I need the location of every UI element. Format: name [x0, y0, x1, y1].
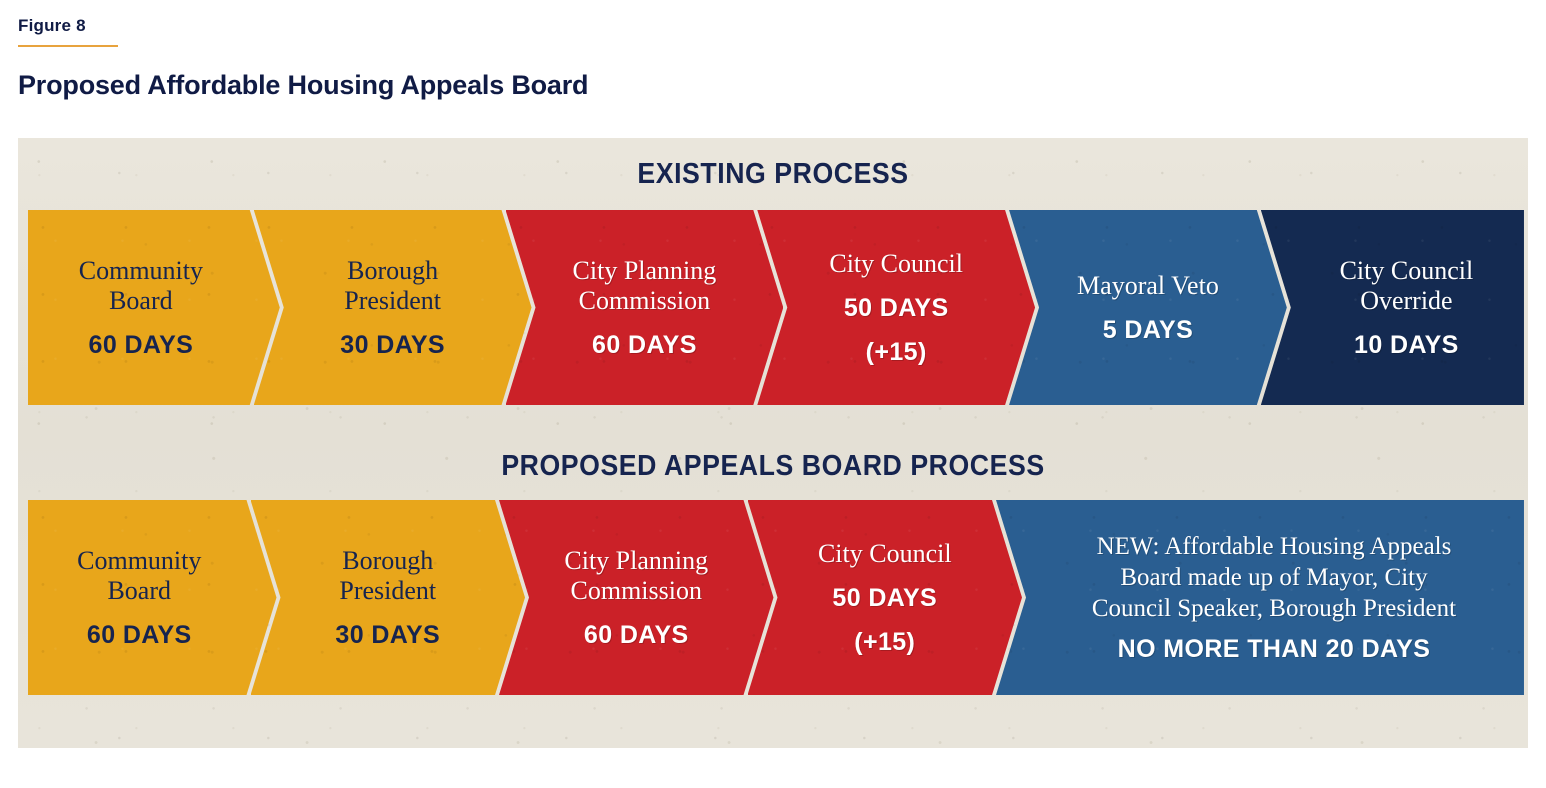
figure-rule-divider: [18, 45, 118, 47]
step-duration: 50 DAYS: [832, 583, 937, 613]
step-label: BoroughPresident: [344, 256, 441, 316]
step-city-council-override-existing[interactable]: City CouncilOverride 10 DAYS: [1261, 210, 1524, 405]
figure-header: Figure 8 Proposed Affordable Housing App…: [18, 16, 718, 101]
flow-proposed-appeals-board-process: CommunityBoard 60 DAYS BoroughPresident …: [28, 500, 1524, 695]
step-community-board-proposed[interactable]: CommunityBoard 60 DAYS: [28, 500, 277, 695]
step-duration: NO MORE THAN 20 DAYS: [1118, 634, 1431, 664]
step-label: City PlanningCommission: [573, 256, 717, 316]
step-city-council-existing[interactable]: City Council 50 DAYS (+15): [757, 210, 1035, 405]
step-city-planning-commission-proposed[interactable]: City PlanningCommission 60 DAYS: [499, 500, 774, 695]
step-label: CommunityBoard: [77, 546, 201, 606]
step-duration-extra: (+15): [854, 627, 915, 657]
step-label: BoroughPresident: [339, 546, 436, 606]
step-duration: 5 DAYS: [1103, 315, 1193, 345]
step-duration: 30 DAYS: [340, 330, 445, 360]
step-city-planning-commission-existing[interactable]: City PlanningCommission 60 DAYS: [506, 210, 784, 405]
step-label: City CouncilOverride: [1340, 256, 1474, 316]
step-label: Mayoral Veto: [1077, 271, 1219, 301]
step-label: CommunityBoard: [79, 256, 203, 316]
step-duration-extra: (+15): [866, 337, 927, 367]
step-label: City Council: [818, 539, 952, 569]
band-title-existing: EXISTING PROCESS: [78, 158, 1467, 191]
step-duration: 50 DAYS: [844, 293, 949, 323]
step-community-board-existing[interactable]: CommunityBoard 60 DAYS: [28, 210, 280, 405]
step-city-council-proposed[interactable]: City Council 50 DAYS (+15): [748, 500, 1023, 695]
step-duration: 60 DAYS: [584, 620, 689, 650]
step-label: City PlanningCommission: [564, 546, 708, 606]
step-label: City Council: [829, 249, 963, 279]
figure-panel: EXISTING PROCESS CommunityBoard 60 DAYS …: [18, 138, 1528, 748]
step-duration: 30 DAYS: [335, 620, 440, 650]
step-label: NEW: Affordable Housing AppealsBoard mad…: [1092, 531, 1456, 624]
page-title: Proposed Affordable Housing Appeals Boar…: [18, 69, 718, 101]
step-duration: 60 DAYS: [592, 330, 697, 360]
figure-label: Figure 8: [18, 16, 718, 36]
step-borough-president-proposed[interactable]: BoroughPresident 30 DAYS: [251, 500, 526, 695]
band-title-proposed: PROPOSED APPEALS BOARD PROCESS: [78, 450, 1467, 483]
step-borough-president-existing[interactable]: BoroughPresident 30 DAYS: [254, 210, 532, 405]
step-duration: 60 DAYS: [87, 620, 192, 650]
step-mayoral-veto-existing[interactable]: Mayoral Veto 5 DAYS: [1009, 210, 1287, 405]
step-appeals-board-proposed[interactable]: NEW: Affordable Housing AppealsBoard mad…: [996, 500, 1524, 695]
figure-page: Figure 8 Proposed Affordable Housing App…: [0, 0, 1546, 788]
step-duration: 10 DAYS: [1354, 330, 1459, 360]
flow-existing-process: CommunityBoard 60 DAYS BoroughPresident …: [28, 210, 1524, 405]
step-duration: 60 DAYS: [89, 330, 194, 360]
